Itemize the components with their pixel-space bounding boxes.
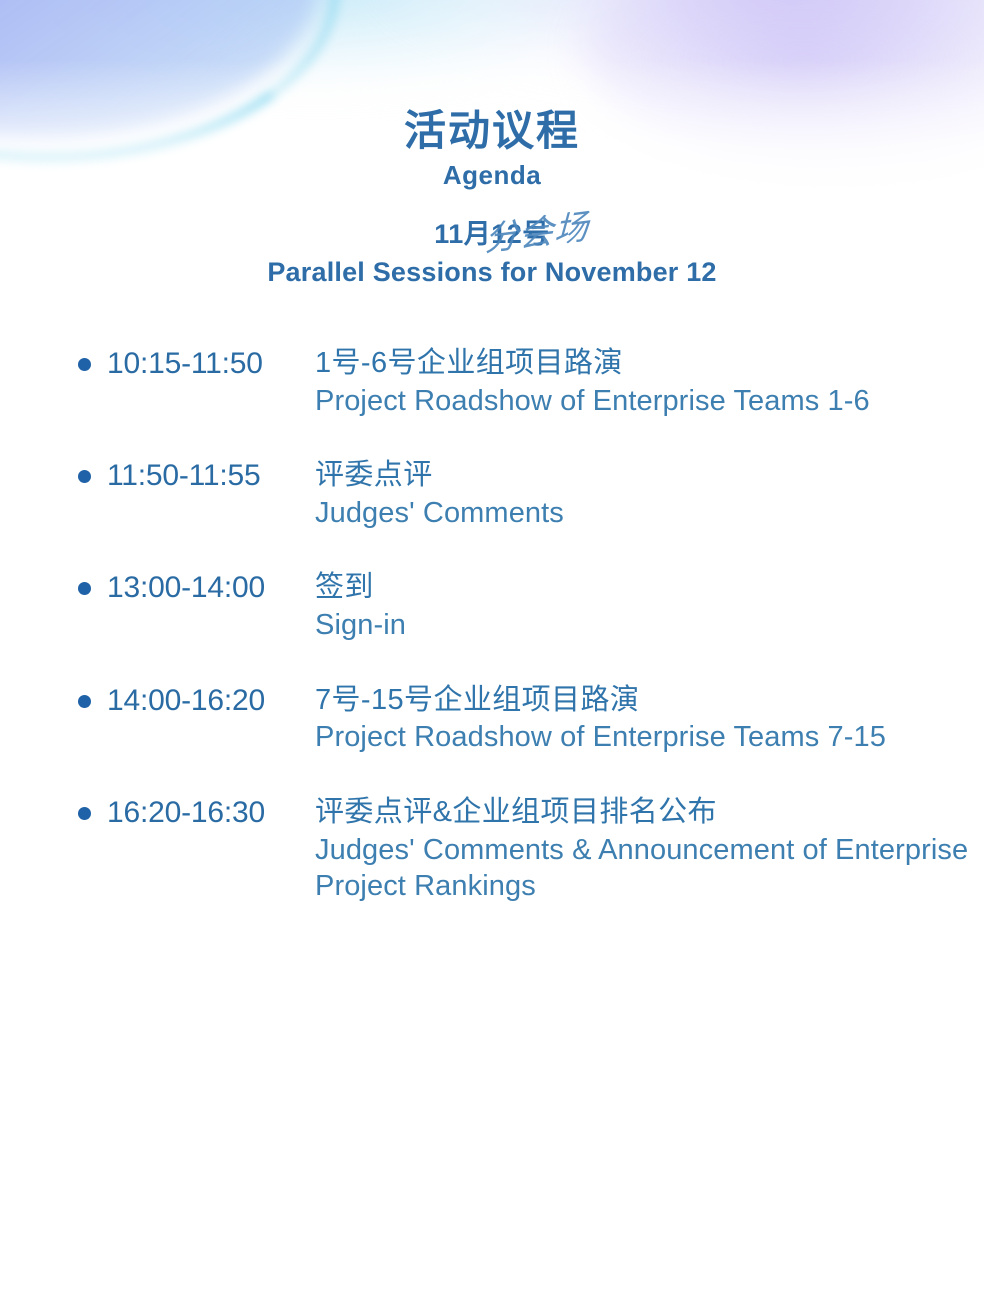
agenda-item-title-en: Sign-in	[315, 609, 406, 641]
agenda-item-title-en: Judges' Comments	[315, 497, 564, 529]
agenda-item-description: 7号-15号企业组项目路演 Project Roadshow of Enterp…	[315, 682, 984, 756]
agenda-item-time: 16:20-16:30	[107, 794, 315, 832]
bullet-icon	[78, 470, 91, 483]
page-subtitle-en: Parallel Sessions for November 12	[0, 256, 984, 288]
agenda-item: 16:20-16:30 评委点评&企业组项目排名公布 Judges' Comme…	[0, 794, 984, 905]
agenda-item: 11:50-11:55 评委点评 Judges' Comments	[0, 457, 984, 531]
handwritten-annotation: 分会场	[484, 198, 590, 260]
agenda-item-description: 评委点评&企业组项目排名公布 Judges' Comments & Announ…	[315, 794, 984, 905]
page-title-cn: 活动议程	[0, 108, 984, 153]
agenda-item-title-cn: 评委点评	[315, 459, 433, 491]
page-subtitle: 11月12号 分会场 Parallel Sessions for Novembe…	[0, 218, 984, 304]
agenda-item-time: 14:00-16:20	[107, 682, 315, 720]
bullet-icon	[78, 807, 91, 820]
agenda-item-title-cn: 签到	[315, 571, 374, 603]
agenda-item-description: 1号-6号企业组项目路演 Project Roadshow of Enterpr…	[315, 345, 984, 419]
bullet-icon	[78, 582, 91, 595]
agenda-item-description: 评委点评 Judges' Comments	[315, 457, 984, 531]
bullet-icon	[78, 358, 91, 371]
agenda-item: 13:00-14:00 签到 Sign-in	[0, 569, 984, 643]
page-title-en: Agenda	[0, 159, 984, 192]
agenda-item: 14:00-16:20 7号-15号企业组项目路演 Project Roadsh…	[0, 682, 984, 756]
agenda-item: 10:15-11:50 1号-6号企业组项目路演 Project Roadsho…	[0, 345, 984, 419]
agenda-item-title-cn: 7号-15号企业组项目路演	[315, 684, 639, 716]
agenda-item-title-cn: 1号-6号企业组项目路演	[315, 347, 623, 379]
agenda-item-time: 11:50-11:55	[107, 457, 315, 495]
agenda-item-title-cn: 评委点评&企业组项目排名公布	[315, 796, 717, 828]
agenda-list: 10:15-11:50 1号-6号企业组项目路演 Project Roadsho…	[0, 345, 984, 905]
agenda-item-title-en: Judges' Comments & Announcement of Enter…	[315, 834, 968, 903]
page-heading: 活动议程 Agenda 11月12号 分会场 Parallel Sessions…	[0, 108, 984, 304]
agenda-item-description: 签到 Sign-in	[315, 569, 984, 643]
agenda-item-title-en: Project Roadshow of Enterprise Teams 7-1…	[315, 721, 886, 753]
agenda-poster: 活动议程 Agenda 11月12号 分会场 Parallel Sessions…	[0, 0, 984, 1312]
agenda-item-time: 10:15-11:50	[107, 345, 315, 383]
agenda-item-time: 13:00-14:00	[107, 569, 315, 607]
bullet-icon	[78, 695, 91, 708]
agenda-item-title-en: Project Roadshow of Enterprise Teams 1-6	[315, 385, 870, 417]
